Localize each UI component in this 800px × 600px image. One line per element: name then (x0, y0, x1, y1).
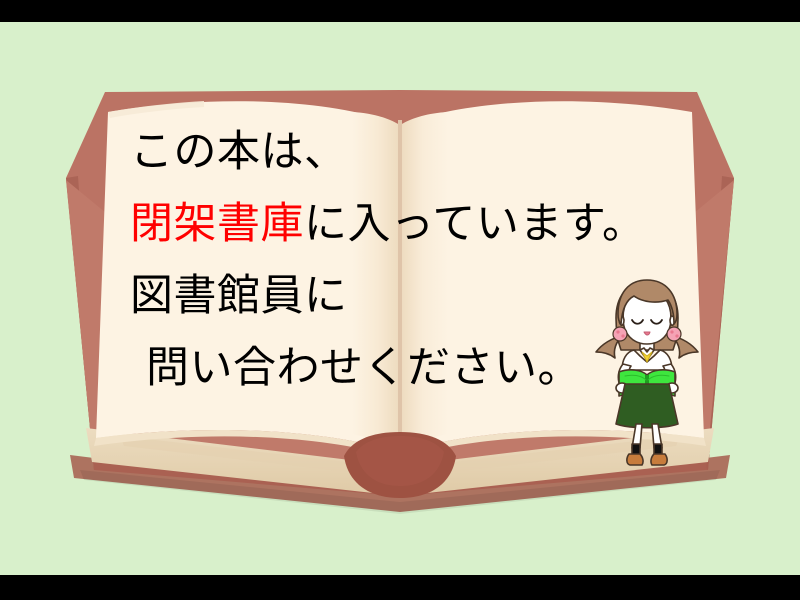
hair-tie-right (667, 327, 681, 341)
notice-line-1-text: この本は、 (130, 127, 348, 177)
letterbox-bar-top (0, 0, 800, 22)
slide-canvas: この本は、 閉架書庫に入っています。 図書館員に 問い合わせください。 (0, 0, 800, 600)
skirt (616, 384, 678, 428)
notice-line-1: この本は、 (130, 116, 690, 188)
shoe-left (627, 454, 643, 465)
notice-keyword-closed-stacks: 閉架書庫 (130, 199, 304, 249)
notice-line-2-rest: に入っています。 (304, 199, 646, 249)
shoe-right (651, 454, 667, 465)
notice-line-2: 閉架書庫に入っています。 (130, 188, 690, 260)
hair-tie-left (613, 327, 627, 341)
letterbox-bar-bottom (0, 575, 800, 600)
girl-reading-illustration (592, 272, 702, 468)
notice-line-4-text: 問い合わせください。 (146, 343, 581, 393)
notice-line-3-text: 図書館員に (130, 271, 348, 321)
